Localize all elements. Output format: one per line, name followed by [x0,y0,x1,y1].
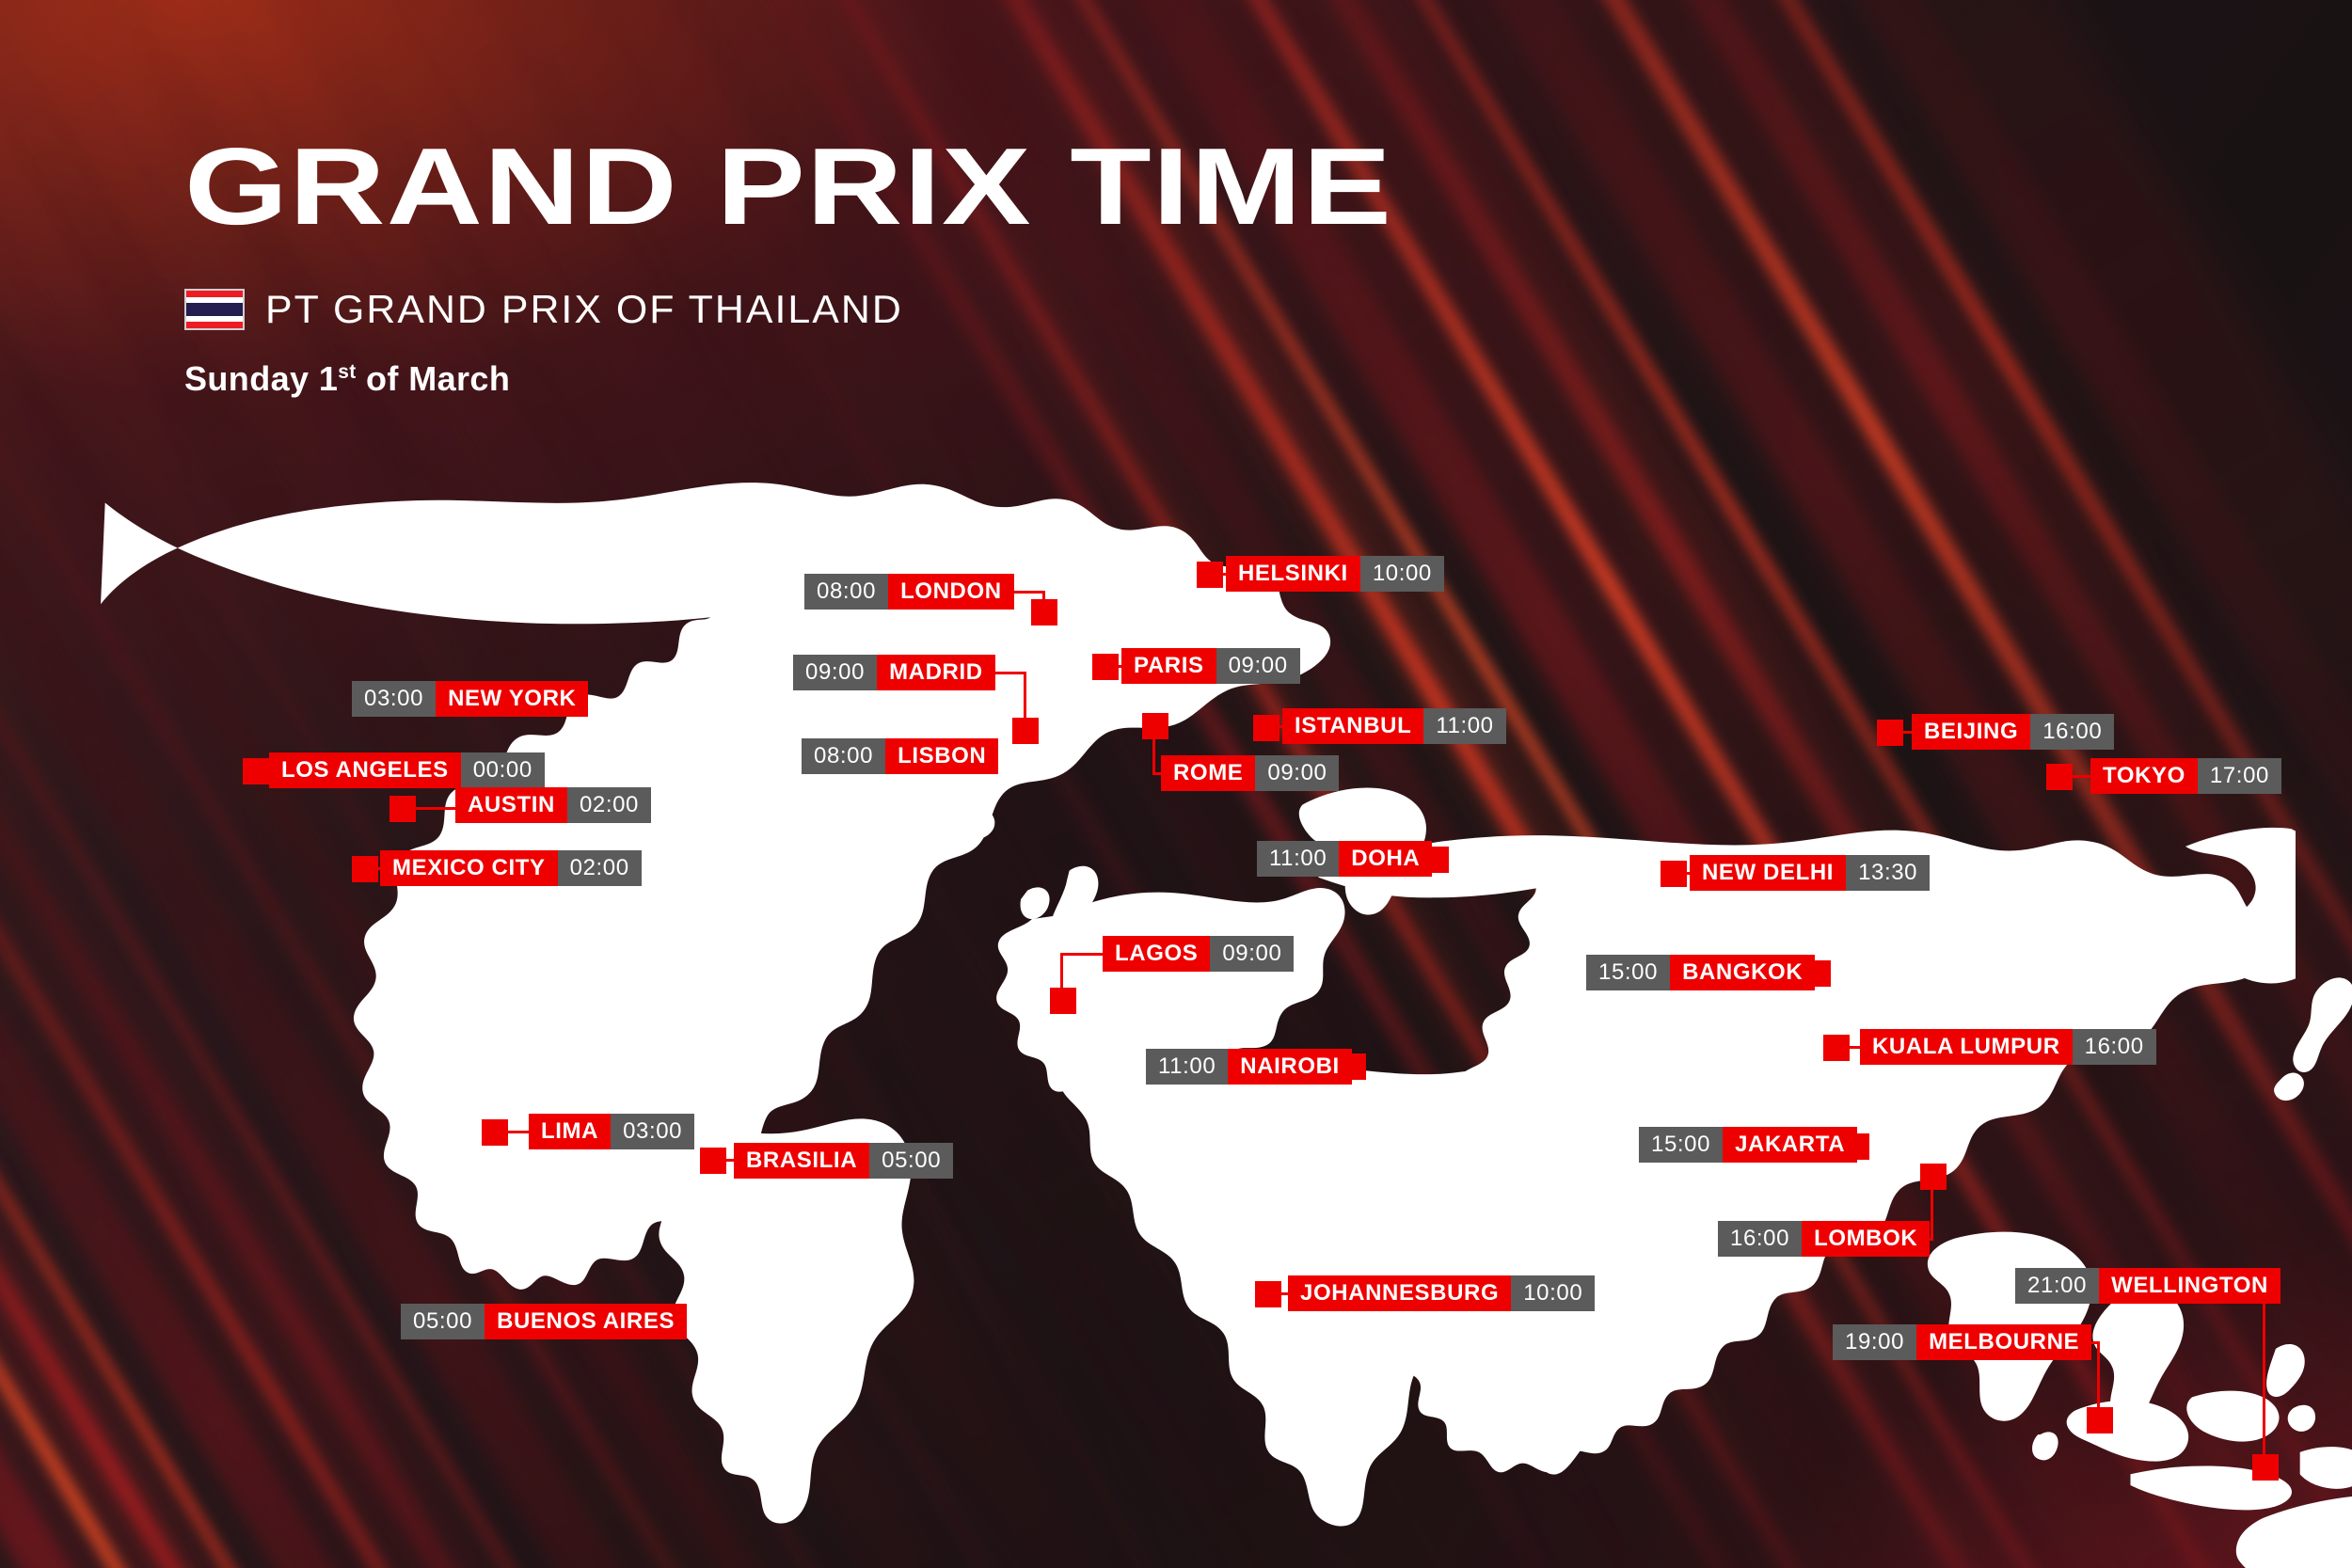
label-doha[interactable]: 11:00 DOHA [1257,841,1432,877]
map-marker-brasilia[interactable] [700,1148,726,1174]
label-brasilia[interactable]: BRASILIA 05:00 [734,1143,953,1179]
city-name: ISTANBUL [1282,708,1423,744]
leader-line-rome-v [1152,736,1155,775]
map-marker-paris[interactable] [1092,654,1119,680]
leader-line-melbourne-v [2097,1341,2100,1411]
city-name: JOHANNESBURG [1288,1275,1511,1311]
city-name: LIMA [529,1114,611,1149]
label-austin[interactable]: AUSTIN 02:00 [455,787,651,823]
label-buenos-aires[interactable]: 05:00 BUENOS AIRES [401,1304,687,1339]
leader-line-lagos-h [1060,953,1107,956]
city-name: MADRID [877,655,995,690]
city-name: JAKARTA [1723,1127,1857,1163]
map-marker-austin[interactable] [389,796,416,822]
city-time: 10:00 [1360,556,1444,592]
city-time: 15:00 [1639,1127,1723,1163]
label-madrid[interactable]: 09:00 MADRID [793,655,995,690]
city-time: 11:00 [1146,1049,1228,1085]
city-time: 05:00 [869,1143,953,1179]
label-paris[interactable]: PARIS 09:00 [1121,648,1300,684]
city-time: 15:00 [1586,955,1670,990]
city-name: LISBON [885,738,998,774]
label-lombok[interactable]: 16:00 LOMBOK [1718,1221,1930,1257]
map-marker-lima[interactable] [482,1119,508,1146]
city-time: 05:00 [401,1304,485,1339]
city-time: 10:00 [1511,1275,1595,1311]
map-marker-new-delhi[interactable] [1661,861,1687,887]
city-name: WELLINGTON [2099,1268,2280,1304]
label-mexico-city[interactable]: MEXICO CITY 02:00 [380,850,642,886]
label-los-angeles[interactable]: LOS ANGELES 00:00 [269,752,545,788]
leader-line-lima [506,1131,529,1133]
city-name: NEW YORK [436,681,588,717]
label-lisbon[interactable]: 08:00 LISBON [802,738,998,774]
city-time: 16:00 [2073,1029,2156,1065]
label-bangkok[interactable]: 15:00 BANGKOK [1586,955,1815,990]
map-marker-helsinki[interactable] [1197,562,1223,588]
city-name: LOS ANGELES [269,752,461,788]
city-time: 11:00 [1257,841,1339,877]
city-time: 17:00 [2198,758,2281,794]
grand-prix-time-graphic: GRAND PRIX TIME PT GRAND PRIX OF THAILAN… [0,0,2352,1568]
world-map: LOS ANGELES 00:00 03:00 NEW YORK AUSTIN … [0,0,2352,1568]
city-time: 08:00 [802,738,885,774]
label-istanbul[interactable]: ISTANBUL 11:00 [1282,708,1506,744]
label-johannesburg[interactable]: JOHANNESBURG 10:00 [1288,1275,1595,1311]
city-name: PARIS [1121,648,1216,684]
city-time: 09:00 [793,655,877,690]
label-jakarta[interactable]: 15:00 JAKARTA [1639,1127,1857,1163]
city-name: MEXICO CITY [380,850,558,886]
city-time: 09:00 [1216,648,1300,684]
leader-line-london-v [1042,591,1045,606]
map-marker-johannesburg[interactable] [1255,1281,1281,1307]
map-marker-mexico-city[interactable] [352,856,378,882]
label-tokyo[interactable]: TOKYO 17:00 [2090,758,2281,794]
city-name: LONDON [888,574,1014,610]
city-name: NAIROBI [1228,1049,1352,1085]
city-name: NEW DELHI [1690,855,1846,891]
city-time: 13:30 [1846,855,1930,891]
map-marker-tokyo[interactable] [2046,764,2073,790]
city-time: 21:00 [2015,1268,2099,1304]
city-name: ROME [1161,755,1255,791]
city-time: 03:00 [611,1114,694,1149]
leader-line-wellington-v [2263,1284,2265,1459]
leader-line-madrid-v [1024,672,1026,723]
map-marker-istanbul[interactable] [1253,715,1279,741]
city-name: BRASILIA [734,1143,869,1179]
label-london[interactable]: 08:00 LONDON [804,574,1014,610]
leader-line-lombok-v [1931,1186,1933,1241]
city-name: DOHA [1339,841,1432,877]
city-name: LOMBOK [1802,1221,1930,1257]
map-marker-wellington[interactable] [2252,1454,2279,1481]
city-time: 09:00 [1255,755,1339,791]
world-map-landmasses [94,461,2296,1524]
city-time: 16:00 [1718,1221,1802,1257]
city-name: MELBOURNE [1916,1324,2091,1360]
city-time: 03:00 [352,681,436,717]
city-name: KUALA LUMPUR [1860,1029,2073,1065]
city-name: BANGKOK [1670,955,1815,990]
city-name: BUENOS AIRES [485,1304,687,1339]
label-helsinki[interactable]: HELSINKI 10:00 [1226,556,1444,592]
map-marker-lombok[interactable] [1920,1164,1947,1190]
label-new-delhi[interactable]: NEW DELHI 13:30 [1690,855,1930,891]
city-time: 02:00 [567,787,651,823]
map-marker-melbourne[interactable] [2087,1407,2113,1433]
label-wellington[interactable]: 21:00 WELLINGTON [2015,1268,2280,1304]
city-name: TOKYO [2090,758,2198,794]
map-marker-rome[interactable] [1142,713,1168,739]
leader-line-austin [414,807,455,810]
city-name: AUSTIN [455,787,567,823]
leader-line-lagos-v [1060,953,1063,994]
city-name: HELSINKI [1226,556,1360,592]
map-marker-lagos[interactable] [1050,988,1076,1014]
city-time: 11:00 [1423,708,1505,744]
label-new-york[interactable]: 03:00 NEW YORK [352,681,588,717]
label-nairobi[interactable]: 11:00 NAIROBI [1146,1049,1352,1085]
label-rome[interactable]: ROME 09:00 [1161,755,1339,791]
label-kuala-lumpur[interactable]: KUALA LUMPUR 16:00 [1860,1029,2156,1065]
city-time: 08:00 [804,574,888,610]
city-name: BEIJING [1912,714,2030,750]
city-name: LAGOS [1103,936,1210,972]
label-melbourne[interactable]: 19:00 MELBOURNE [1833,1324,2091,1360]
city-time: 16:00 [2030,714,2114,750]
city-time: 02:00 [558,850,642,886]
city-time: 00:00 [461,752,545,788]
map-marker-los-angeles[interactable] [243,758,269,784]
label-beijing[interactable]: BEIJING 16:00 [1912,714,2114,750]
map-marker-kuala-lumpur[interactable] [1823,1035,1850,1061]
city-time: 19:00 [1833,1324,1916,1360]
label-lima[interactable]: LIMA 03:00 [529,1114,694,1149]
city-time: 09:00 [1210,936,1294,972]
map-marker-beijing[interactable] [1877,720,1903,746]
label-lagos[interactable]: LAGOS 09:00 [1103,936,1294,972]
